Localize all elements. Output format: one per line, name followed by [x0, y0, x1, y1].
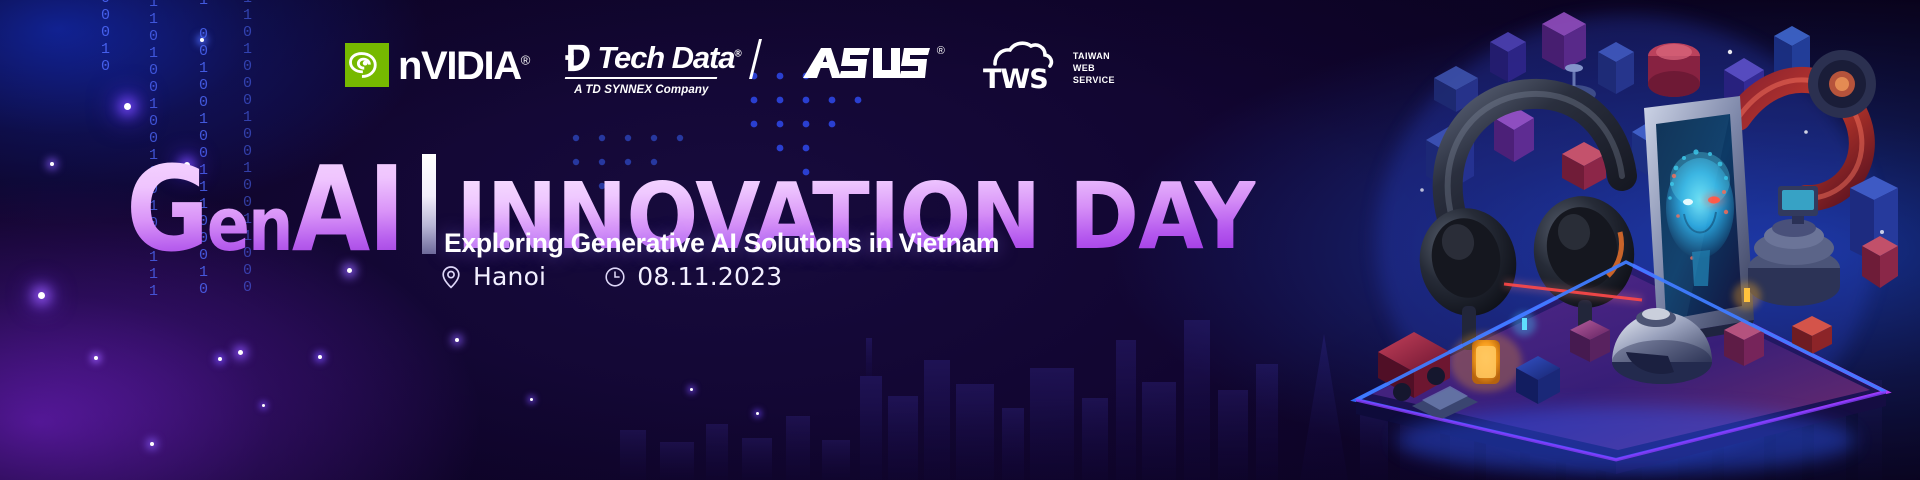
glow-spark — [455, 338, 459, 342]
ai-city-illustration — [1326, 0, 1920, 480]
techdata-d-mark-icon — [565, 43, 590, 73]
logo-asus: ® — [801, 44, 945, 84]
headline-divider-bar — [422, 154, 436, 254]
glow-spark — [150, 442, 154, 446]
glow-spark — [38, 292, 45, 299]
glow-spark — [218, 357, 222, 361]
glow-spark — [318, 355, 322, 359]
glow-spark — [200, 38, 204, 42]
tws-tagline-line3: SERVICE — [1073, 75, 1115, 87]
event-location: Hanoi — [440, 262, 546, 291]
glow-spark — [262, 404, 265, 407]
glow-spark — [238, 350, 243, 355]
headline-genai-en: en — [207, 182, 292, 268]
nvidia-registered-mark: ® — [521, 53, 531, 68]
glow-spark — [530, 398, 533, 401]
tws-tagline-line1: TAIWAN — [1073, 51, 1115, 63]
asus-registered-mark: ® — [937, 45, 945, 57]
techdata-wordmark: Tech Data® — [597, 42, 740, 73]
nvidia-wordmark-text: nVIDIA — [398, 44, 521, 88]
event-meta-row: Hanoi 08.11.2023 — [440, 262, 782, 291]
genai-innovation-day-banner: 00010 1101001001001001110001 0 1 0010010… — [0, 0, 1920, 480]
svg-text:TWS: TWS — [983, 64, 1048, 92]
logo-tws: TWS TAIWAN WEB SERVICE — [983, 40, 1115, 92]
clock-icon — [604, 265, 626, 289]
headline-genai-g: G — [126, 140, 207, 278]
banner-subtitle: Exploring Generative AI Solutions in Vie… — [444, 228, 999, 259]
glow-spark — [50, 162, 54, 166]
event-date-text: 08.11.2023 — [637, 262, 782, 291]
nvidia-eye-icon — [345, 43, 389, 87]
headline-genai-ai: AI — [292, 140, 403, 278]
techdata-slash-decoration — [749, 39, 762, 79]
techdata-wordmark-text: Tech Data — [597, 40, 734, 75]
glow-spark — [124, 103, 131, 110]
techdata-registered-mark: ® — [734, 49, 740, 60]
techdata-tagline: A TD SYNNEX Company — [565, 84, 717, 96]
logo-tech-data: Tech Data® A TD SYNNEX Company — [565, 42, 740, 96]
glow-spark — [690, 388, 693, 391]
event-date: 08.11.2023 — [604, 262, 782, 291]
techdata-row: Tech Data® — [565, 42, 740, 73]
event-location-text: Hanoi — [473, 262, 546, 291]
tws-tagline-line2: WEB — [1073, 63, 1115, 75]
techdata-underline — [565, 77, 717, 79]
location-pin-icon — [440, 265, 462, 289]
glow-spark — [94, 356, 98, 360]
nvidia-wordmark: nVIDIA® — [398, 46, 530, 86]
asus-wordmark-icon — [801, 44, 935, 84]
headline-genai: GenAI — [126, 159, 403, 260]
partner-logo-bar: nVIDIA® Tech Data® A TD SYNNEX Company — [345, 36, 1115, 100]
tws-cloud-icon: TWS — [983, 40, 1067, 92]
tws-tagline: TAIWAN WEB SERVICE — [1073, 51, 1115, 87]
logo-nvidia: nVIDIA® — [345, 43, 530, 87]
glow-spark — [756, 412, 759, 415]
